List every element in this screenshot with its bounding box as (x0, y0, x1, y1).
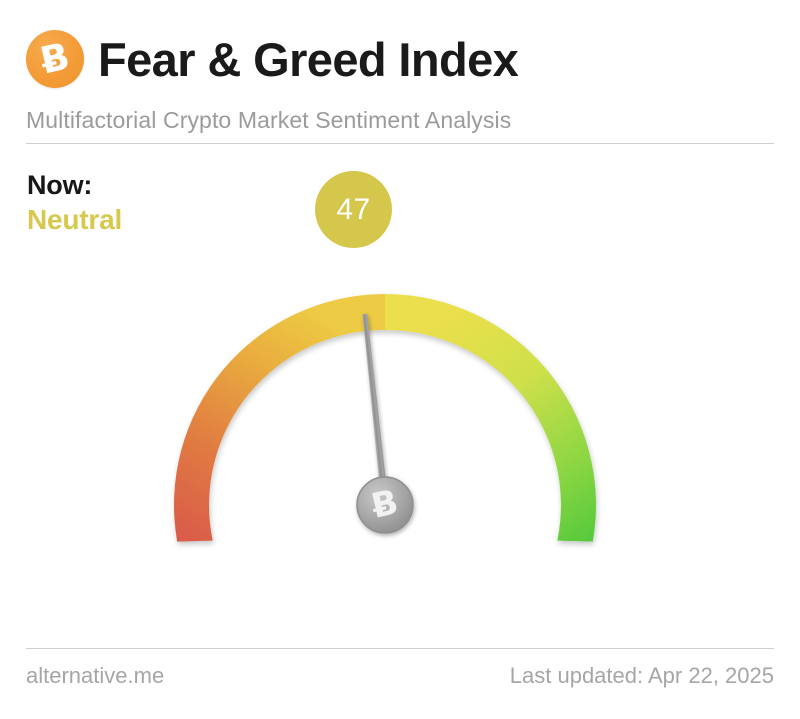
footer-source: alternative.me (26, 663, 164, 689)
gauge-arc-left (174, 294, 385, 542)
page-title: Fear & Greed Index (98, 36, 518, 83)
footer: alternative.me Last updated: Apr 22, 202… (26, 663, 774, 689)
status-sentiment-label: Neutral (27, 204, 122, 235)
header: Ƀ Fear & Greed Index Multifactorial Cryp… (26, 26, 774, 126)
brand-row: Ƀ Fear & Greed Index (26, 26, 774, 92)
footer-divider (26, 648, 774, 649)
page-subtitle: Multifactorial Crypto Market Sentiment A… (26, 107, 774, 134)
gauge-hub: Ƀ (357, 477, 413, 533)
bitcoin-icon: Ƀ (26, 30, 84, 88)
value-badge: 47 (315, 171, 392, 248)
status-now-label: Now: (27, 170, 122, 200)
header-divider (26, 143, 774, 144)
status-block: Now: Neutral (27, 170, 122, 236)
gauge-svg: Ƀ (0, 250, 800, 630)
gauge: Ƀ (0, 250, 800, 630)
gauge-arc-right (385, 294, 596, 542)
fear-greed-index-widget: Ƀ Fear & Greed Index Multifactorial Cryp… (0, 0, 800, 719)
bitcoin-glyph: Ƀ (20, 24, 90, 94)
footer-last-updated: Last updated: Apr 22, 2025 (510, 663, 774, 689)
